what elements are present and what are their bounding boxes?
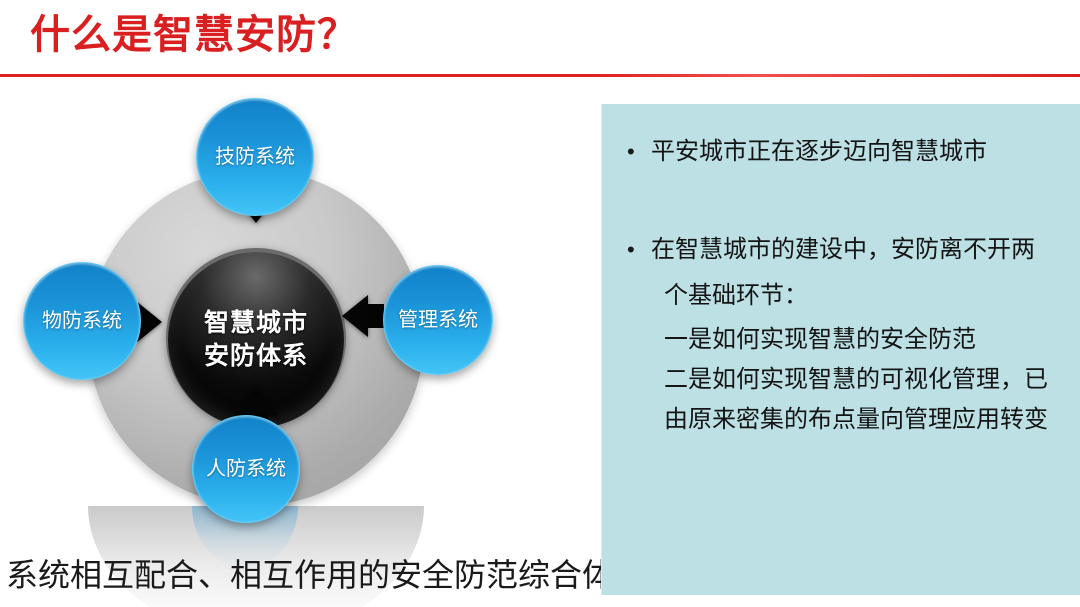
arrow-left-stem <box>366 304 384 328</box>
security-system-diagram: 智慧城市 安防体系 技防系统 物防系统 管理系统 人防系统 <box>0 90 580 550</box>
sub-item-1: 一是如何实现智慧的安全防范 <box>664 320 1070 360</box>
bullet-marker-icon: • <box>627 132 651 172</box>
slide-canvas: 什么是智慧安防？ 智慧城市 安防体系 技防系统 物防系统 管理系统 人防系 <box>0 0 1080 607</box>
bullet-text: 在智慧城市的建设中，安防离不开两 <box>651 230 1035 270</box>
page-title: 什么是智慧安防？ <box>30 13 358 57</box>
node-label: 物防系统 <box>42 311 122 331</box>
node-label: 管理系统 <box>398 310 478 330</box>
node-civil-defense[interactable]: 人防系统 <box>192 415 300 523</box>
bullet-continuation-line: 个基础环节： <box>664 276 1070 316</box>
diagram-caption: 系统相互配合、相互作用的安全防范综合体 <box>6 558 614 593</box>
node-label: 技防系统 <box>215 147 295 167</box>
arrow-left-icon <box>342 295 368 337</box>
core-label-line2: 安防体系 <box>204 340 308 374</box>
node-management-system[interactable]: 管理系统 <box>383 265 493 375</box>
node-technical-defense[interactable]: 技防系统 <box>196 98 314 216</box>
content-panel: • 平安城市正在逐步迈向智慧城市 • 在智慧城市的建设中，安防离不开两 个基础环… <box>601 104 1080 595</box>
node-label: 人防系统 <box>206 459 286 479</box>
sub-item-2: 二是如何实现智慧的可视化管理，已 <box>664 360 1070 400</box>
sub-item-3: 由原来密集的布点量向管理应用转变 <box>664 400 1070 440</box>
arrow-up-icon <box>234 387 278 415</box>
bullet-spacer <box>627 178 1070 230</box>
bullet-item-1: • 平安城市正在逐步迈向智慧城市 <box>627 132 1070 172</box>
bullet-marker-icon: • <box>627 230 651 270</box>
core-label-line1: 智慧城市 <box>204 307 308 341</box>
node-physical-defense[interactable]: 物防系统 <box>23 262 141 380</box>
bullet-item-2: • 在智慧城市的建设中，安防离不开两 <box>627 230 1070 270</box>
bullet-text: 平安城市正在逐步迈向智慧城市 <box>651 132 987 172</box>
title-divider <box>0 74 1080 77</box>
